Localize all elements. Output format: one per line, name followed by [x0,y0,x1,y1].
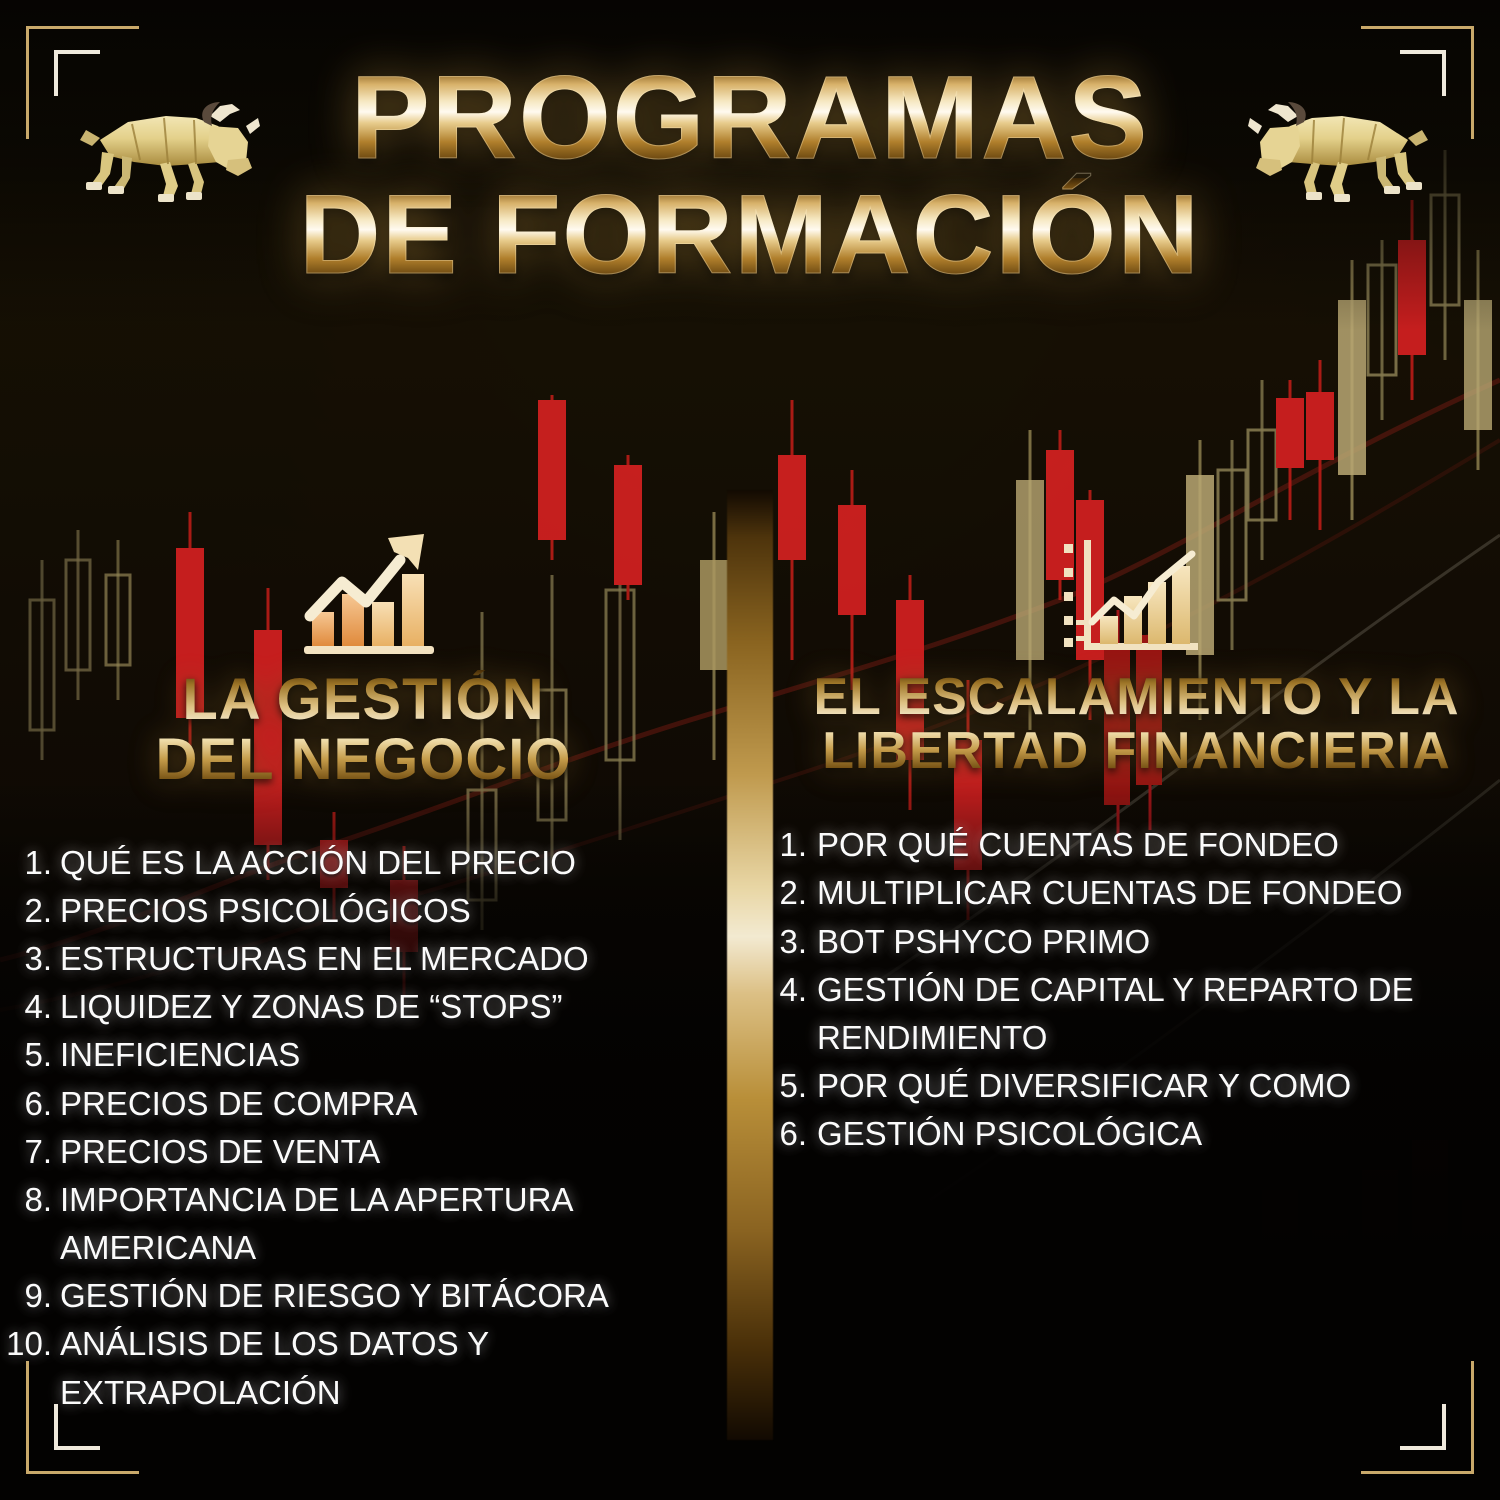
list-item: 6.GESTIÓN PSICOLÓGICA [773,1110,1500,1158]
bar-chart-up-arrow-icon-wrap [0,520,727,660]
list-item: 1.QUÉ ES LA ACCIÓN DEL PRECIO [0,839,727,887]
list-item-number: 3. [0,935,52,983]
list-item-label: BOT PSHYCO PRIMO [817,918,1500,966]
list-item-label: LIQUIDEZ Y ZONAS DE “STOPS” [60,983,727,1031]
gold-vertical-divider [727,490,773,1440]
list-item: 4.GESTIÓN DE CAPITAL Y REPARTO DE RENDIM… [773,966,1500,1062]
list-item: 5.POR QUÉ DIVERSIFICAR Y COMO [773,1062,1500,1110]
list-item: 3.BOT PSHYCO PRIMO [773,918,1500,966]
list-item-label: PRECIOS PSICOLÓGICOS [60,887,727,935]
list-item-label: PRECIOS DE COMPRA [60,1080,727,1128]
list-item: 9.GESTIÓN DE RIESGO Y BITÁCORA [0,1272,727,1320]
list-item-number: 7. [0,1128,52,1176]
list-item-number: 6. [0,1080,52,1128]
column-heading-left: LA GESTIÓN DEL NEGOCIO [0,670,727,791]
list-item-label: POR QUÉ DIVERSIFICAR Y COMO [817,1062,1500,1110]
program-list-right: 1.POR QUÉ CUENTAS DE FONDEO 2.MULTIPLICA… [773,821,1500,1158]
list-item: 5.INEFICIENCIAS [0,1031,727,1079]
list-item: 8.IMPORTANCIA DE LA APERTURA AMERICANA [0,1176,727,1272]
list-item-label: QUÉ ES LA ACCIÓN DEL PRECIO [60,839,727,887]
list-item: 6.PRECIOS DE COMPRA [0,1080,727,1128]
list-item-label: ESTRUCTURAS EN EL MERCADO [60,935,727,983]
list-item-number: 1. [773,821,807,869]
list-item-number: 1. [0,839,52,887]
list-item-number: 3. [773,918,807,966]
bull-icon-left [70,82,260,202]
column-heading-right-line-1: EL ESCALAMIENTO Y LA [773,670,1500,724]
list-item-number: 5. [0,1031,52,1079]
list-item-number: 10. [0,1320,52,1368]
bar-chart-axis-line-icon-wrap [773,520,1500,660]
list-item-number: 5. [773,1062,807,1110]
list-item-number: 6. [773,1110,807,1158]
list-item-number: 4. [773,966,807,1014]
list-item-label: GESTIÓN PSICOLÓGICA [817,1110,1500,1158]
list-item-number: 2. [773,869,807,917]
bull-icon-right [1248,82,1438,202]
list-item-label: GESTIÓN DE CAPITAL Y REPARTO DE RENDIMIE… [817,966,1500,1062]
program-column-escalamiento-libertad-financiera: EL ESCALAMIENTO Y LA LIBERTAD FINANCIERI… [773,520,1500,1159]
list-item-label: MULTIPLICAR CUENTAS DE FONDEO [817,869,1500,917]
list-item: 10.ANÁLISIS DE LOS DATOS Y EXTRAPOLACIÓN [0,1320,727,1416]
list-item-number: 9. [0,1272,52,1320]
list-item: 3.ESTRUCTURAS EN EL MERCADO [0,935,727,983]
list-item: 4.LIQUIDEZ Y ZONAS DE “STOPS” [0,983,727,1031]
bar-chart-axis-line-icon [1062,530,1202,660]
list-item-label: GESTIÓN DE RIESGO Y BITÁCORA [60,1272,727,1320]
list-item: 1.POR QUÉ CUENTAS DE FONDEO [773,821,1500,869]
program-column-gestion-del-negocio: LA GESTIÓN DEL NEGOCIO 1.QUÉ ES LA ACCIÓ… [0,520,727,1417]
poster-canvas: PROGRAMAS DE FORMACIÓN [0,0,1500,1500]
list-item: 7.PRECIOS DE VENTA [0,1128,727,1176]
list-item-label: POR QUÉ CUENTAS DE FONDEO [817,821,1500,869]
column-heading-right: EL ESCALAMIENTO Y LA LIBERTAD FINANCIERI… [773,670,1500,778]
list-item: 2.MULTIPLICAR CUENTAS DE FONDEO [773,869,1500,917]
list-item-number: 2. [0,887,52,935]
column-heading-right-line-2: LIBERTAD FINANCIERIA [773,724,1500,778]
program-list-left: 1.QUÉ ES LA ACCIÓN DEL PRECIO 2.PRECIOS … [0,839,727,1417]
list-item-label: PRECIOS DE VENTA [60,1128,727,1176]
list-item-label: INEFICIENCIAS [60,1031,727,1079]
list-item-label: ANÁLISIS DE LOS DATOS Y EXTRAPOLACIÓN [60,1320,727,1416]
list-item-number: 8. [0,1176,52,1224]
list-item: 2.PRECIOS PSICOLÓGICOS [0,887,727,935]
list-item-number: 4. [0,983,52,1031]
list-item-label: IMPORTANCIA DE LA APERTURA AMERICANA [60,1176,727,1272]
column-heading-left-line-2: DEL NEGOCIO [0,730,727,790]
column-heading-left-line-1: LA GESTIÓN [0,670,727,730]
bar-chart-up-arrow-icon [296,520,446,660]
